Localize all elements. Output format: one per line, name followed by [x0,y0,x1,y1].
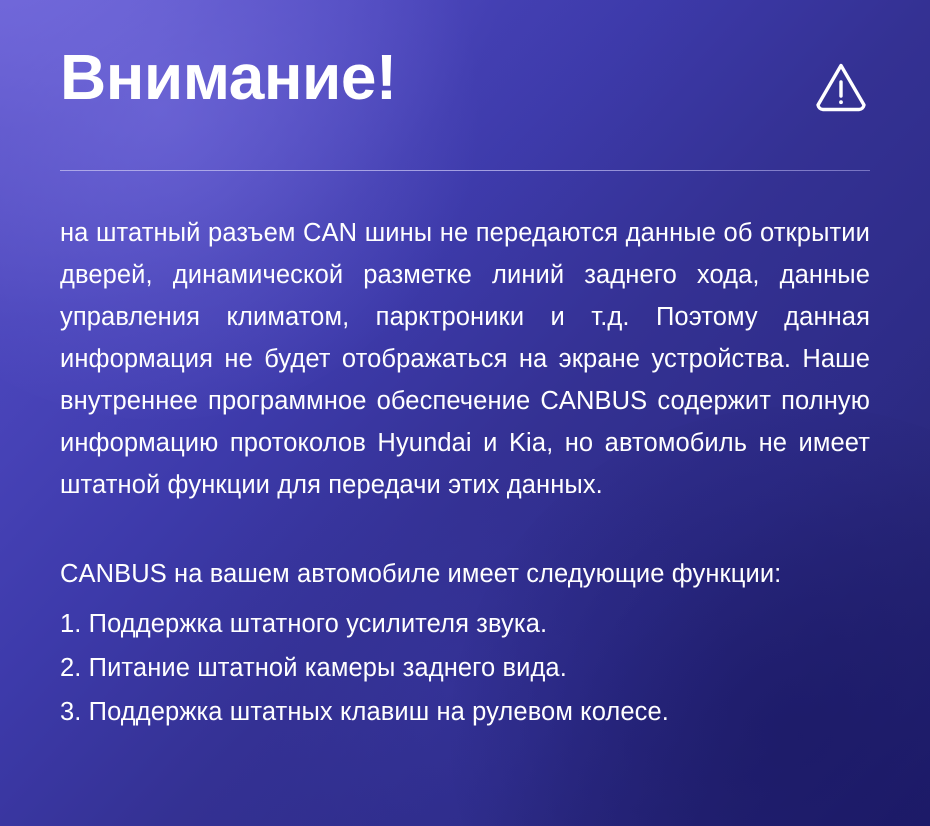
features-intro: CANBUS на вашем автомобиле имеет следующ… [60,552,870,596]
body-paragraph: на штатный разъем CAN шины не передаются… [60,212,870,506]
page-title: Внимание! [60,45,397,109]
list-item: 2. Питание штатной камеры заднего вида. [60,646,870,690]
body-block: на штатный разъем CAN шины не передаются… [60,212,870,506]
list-item: 3. Поддержка штатных клавиш на рулевом к… [60,690,870,734]
warning-triangle-icon [812,58,870,116]
banner-content: Внимание! на штатный разъем CAN шины не … [0,0,930,734]
warning-banner: Внимание! на штатный разъем CAN шины не … [0,0,930,826]
features-block: CANBUS на вашем автомобиле имеет следующ… [60,552,870,734]
banner-header: Внимание! [60,0,870,170]
features-list: 1. Поддержка штатного усилителя звука. 2… [60,602,870,734]
list-item: 1. Поддержка штатного усилителя звука. [60,602,870,646]
